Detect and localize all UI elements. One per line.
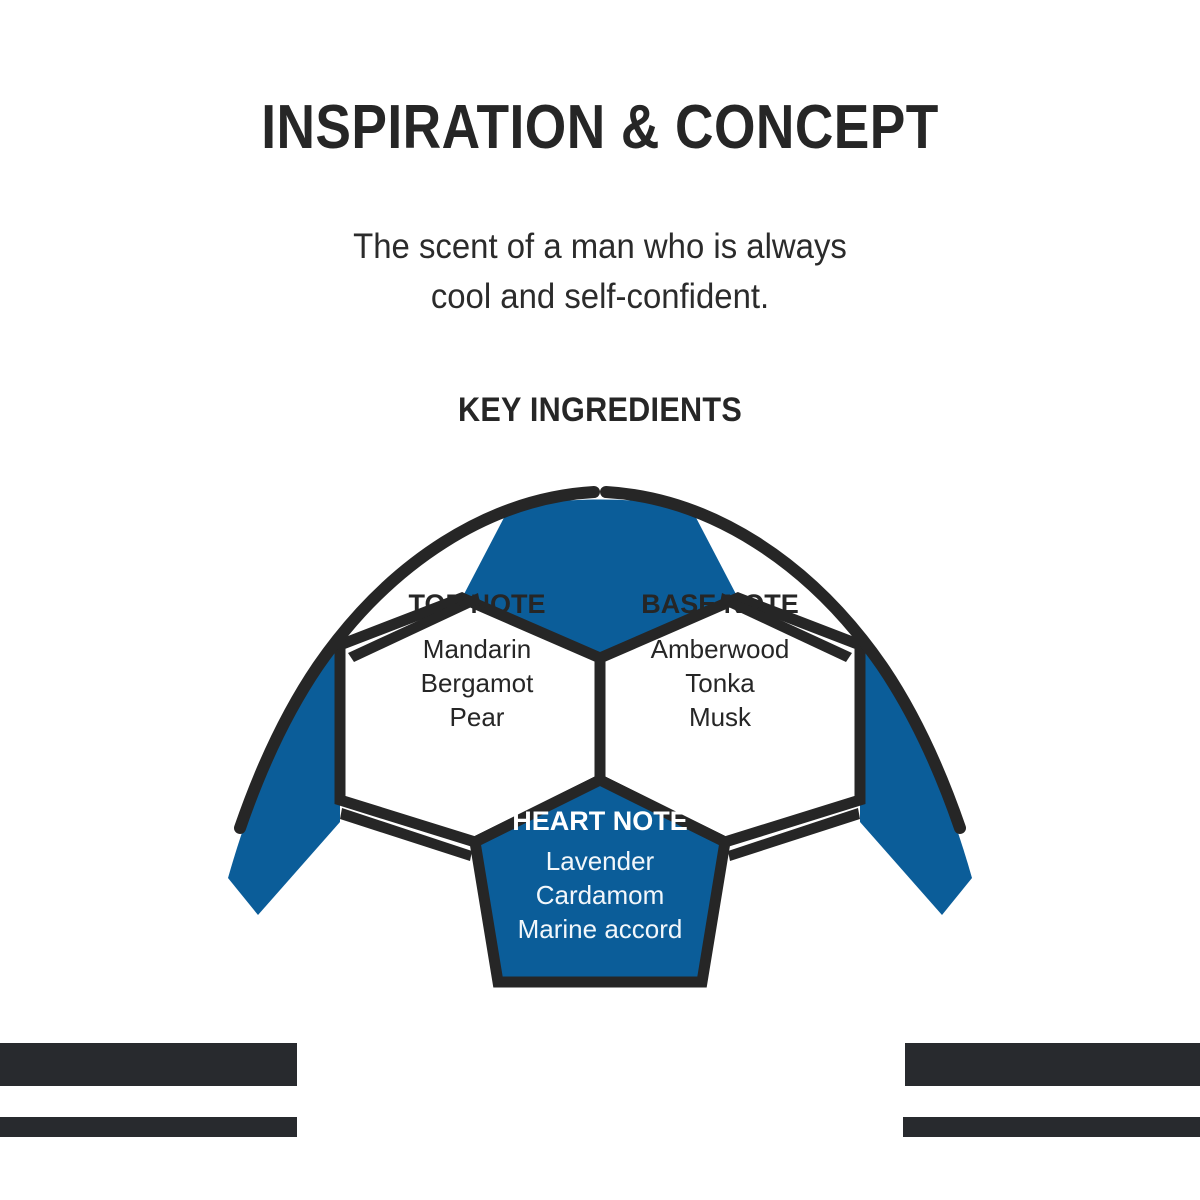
top-note-item-3: Pear: [450, 702, 505, 732]
top-note-item-2: Bergamot: [421, 668, 534, 698]
top-note-title: TOP NOTE: [408, 589, 545, 619]
subtitle-line-1: The scent of a man who is always: [271, 222, 929, 272]
decor-bar-right-thick: [905, 1043, 1200, 1086]
section-heading-key-ingredients: KEY INGREDIENTS: [60, 391, 1140, 430]
top-note-item-1: Mandarin: [423, 634, 531, 664]
decor-bar-left-thin: [0, 1117, 297, 1137]
blue-wedge-right: [860, 642, 972, 915]
decor-bar-right-thin: [903, 1117, 1200, 1137]
base-note-item-2: Tonka: [685, 668, 755, 698]
base-note-item-3: Musk: [689, 702, 752, 732]
heart-note-item-1: Lavender: [546, 846, 655, 876]
heart-note-item-3: Marine accord: [518, 914, 683, 944]
slide-canvas: INSPIRATION & CONCEPT The scent of a man…: [0, 0, 1200, 1200]
base-note-item-1: Amberwood: [651, 634, 790, 664]
blue-wedge-left: [228, 642, 340, 915]
heart-note-title: HEART NOTE: [512, 806, 688, 836]
subtitle: The scent of a man who is always cool an…: [271, 222, 929, 321]
key-ingredients-diagram: TOP NOTE Mandarin Bergamot Pear BASE NOT…: [190, 470, 1010, 1010]
base-note-title: BASE NOTE: [641, 589, 799, 619]
heart-note-item-2: Cardamom: [536, 880, 665, 910]
decor-bar-left-thick: [0, 1043, 297, 1086]
page-title: INSPIRATION & CONCEPT: [84, 95, 1116, 160]
subtitle-line-2: cool and self-confident.: [271, 272, 929, 322]
